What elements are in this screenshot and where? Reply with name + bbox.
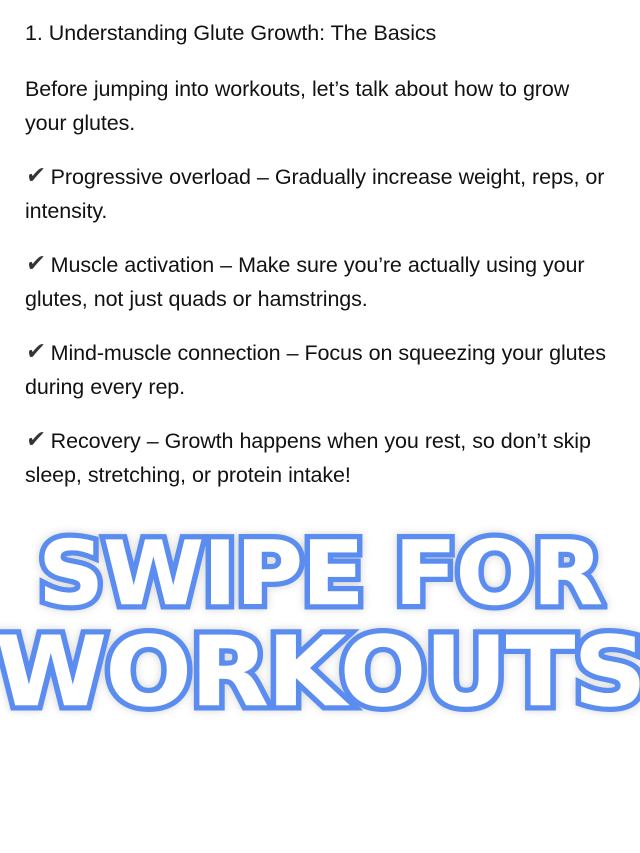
tip-text: Progressive overload – Gradually increas… [25, 165, 604, 223]
page-title: 1. Understanding Glute Growth: The Basic… [25, 16, 613, 50]
tip-text: Mind-muscle connection – Focus on squeez… [25, 341, 606, 399]
check-icon: ✔ [24, 243, 48, 283]
tip-item: ✔Mind-muscle connection – Focus on squee… [25, 336, 613, 404]
tip-item: ✔Progressive overload – Gradually increa… [25, 160, 613, 228]
headline-line-1-fill: SWIPE FOR [0, 531, 640, 617]
headline-line-2: WORKOUTS WORKOUTS WORKOUTS WORKOUTS [0, 625, 640, 719]
intro-paragraph: Before jumping into workouts, let’s talk… [25, 72, 613, 140]
headline-line-1: SWIPE FOR SWIPE FOR SWIPE FOR SWIPE FOR [0, 531, 640, 617]
slide-canvas: 1. Understanding Glute Growth: The Basic… [0, 0, 640, 853]
tip-text: Recovery – Growth happens when you rest,… [25, 429, 591, 487]
tip-item: ✔Muscle activation – Make sure you’re ac… [25, 248, 613, 316]
check-icon: ✔ [24, 419, 48, 459]
article-body: 1. Understanding Glute Growth: The Basic… [25, 16, 613, 492]
headline-line-2-fill: WORKOUTS [0, 625, 640, 719]
check-icon: ✔ [24, 331, 48, 371]
swipe-callout: SWIPE FOR SWIPE FOR SWIPE FOR SWIPE FOR … [0, 531, 640, 719]
tip-text: Muscle activation – Make sure you’re act… [25, 253, 584, 311]
check-icon: ✔ [24, 155, 48, 195]
tip-item: ✔Recovery – Growth happens when you rest… [25, 424, 613, 492]
